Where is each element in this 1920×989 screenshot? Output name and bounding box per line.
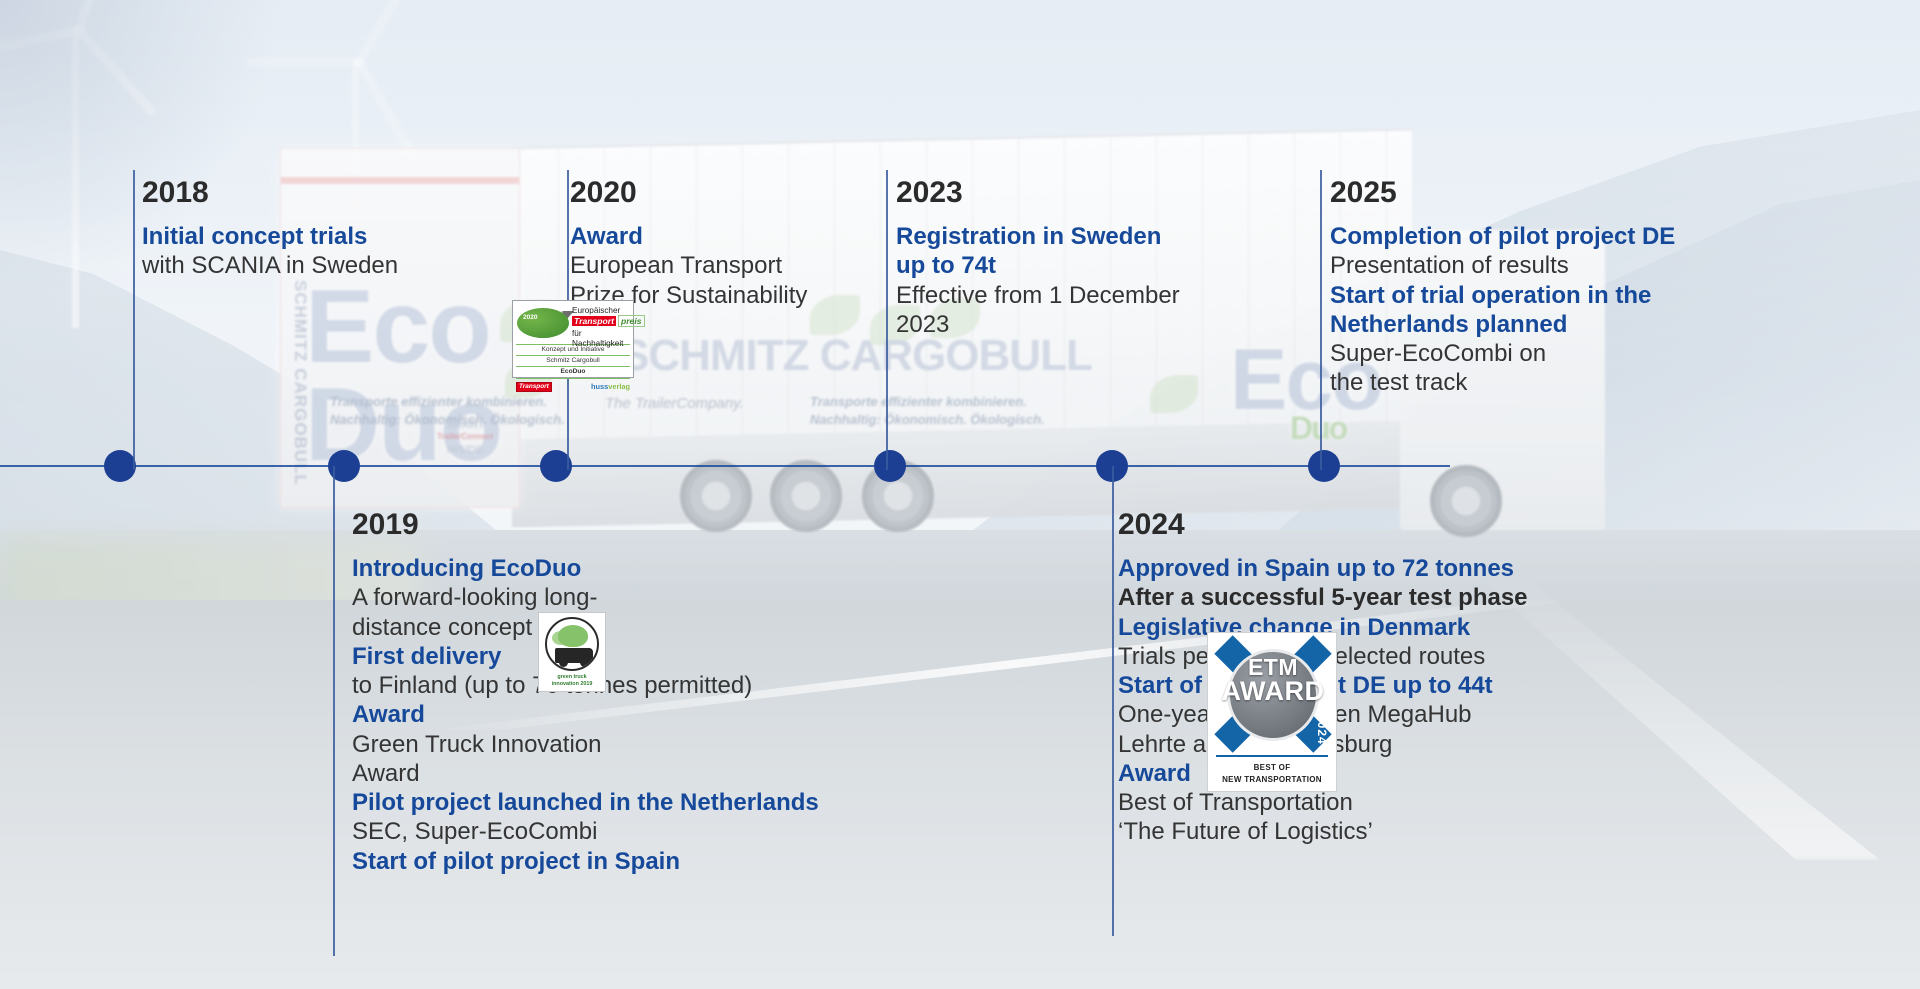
etp-row-product: EcoDuo (516, 367, 630, 378)
entry-line-body: the test track (1330, 368, 1760, 397)
entry-line-body: ‘The Future of Logistics’ (1118, 817, 1718, 846)
truck-slogan-line1-rear: Transporte effizienter kombinieren. (810, 392, 1027, 412)
entry-year: 2023 (896, 178, 1256, 208)
etm-footer-line2: NEW TRANSPORTATION (1216, 774, 1328, 786)
etp-footer-transport-mark: Transport (516, 382, 552, 392)
gt-caption-line1: green truck (552, 674, 593, 681)
etm-year: 2024 (1315, 714, 1329, 745)
entry-line-body: Presentation of results (1330, 251, 1760, 280)
entry-body: Completion of pilot project DE Presentat… (1330, 222, 1760, 398)
timeline-entry-2023: 2023 Registration in Sweden up to 74t Ef… (896, 178, 1256, 339)
truck-brand-vertical: SCHMITZ CARGOBULL (290, 280, 310, 486)
entry-line-highlight: Introducing EcoDuo (352, 554, 952, 583)
truck-eco-text: Eco (305, 280, 490, 376)
publisher-verlag: verlag (608, 382, 630, 391)
etm-word2: AWARD (1208, 679, 1338, 705)
smart-label: SMART (420, 418, 510, 432)
entry-line-body: 2023 (896, 310, 1256, 339)
timeline-entry-2018: 2018 Initial concept trials with SCANIA … (142, 178, 472, 281)
etp-line1: Europäischer (572, 306, 620, 316)
entry-line-highlight: Start of trial operation in the (1330, 281, 1760, 310)
entry-body: Award European Transport Prize for Susta… (570, 222, 870, 310)
tree-icon (558, 625, 588, 647)
truck-slogan-line2-rear: Nachhaltig: Ökonomisch. Ökologisch. (810, 410, 1045, 430)
entry-body: Initial concept trials with SCANIA in Sw… (142, 222, 472, 281)
timeline-dot-2023[interactable] (874, 450, 906, 482)
etp-footer-publisher: hussverlag (591, 382, 630, 391)
entry-line-body: to Finland (up to 76 tonnes permitted) (352, 671, 952, 700)
timeline-stem-2023 (886, 170, 888, 470)
european-transport-prize-logo: 2020 Europäischer Transportpreis für Nac… (512, 300, 634, 378)
timeline-stem-2025 (1320, 170, 1322, 470)
entry-line-highlight: Completion of pilot project DE (1330, 222, 1760, 251)
etp-year: 2020 (523, 314, 537, 322)
entry-line-body: SEC, Super-EcoCombi (352, 817, 952, 846)
etm-footer: BEST OF NEW TRANSPORTATION (1216, 755, 1328, 786)
inside-label: INSIDE (420, 443, 510, 457)
timeline-stem-2019 (333, 466, 335, 956)
green-truck-innovation-award-logo: green truck innovation 2019 (538, 612, 606, 692)
timeline-stem-2024 (1112, 466, 1114, 936)
entry-line-body: with SCANIA in Sweden (142, 251, 472, 280)
entry-line-body: distance concept (352, 613, 952, 642)
entry-line-body-strong: After a successful 5-year test phase (1118, 583, 1718, 612)
entry-line-body: Best of Transportation (1118, 788, 1718, 817)
entry-line-body: European Transport (570, 251, 870, 280)
entry-body: Registration in Sweden up to 74t Effecti… (896, 222, 1256, 339)
entry-line-highlight: First delivery (352, 642, 952, 671)
etm-footer-line1: BEST OF (1216, 762, 1328, 774)
entry-year: 2024 (1118, 510, 1718, 540)
entry-body: Introducing EcoDuo A forward-looking lon… (352, 554, 952, 876)
timeline-dot-2018[interactable] (104, 450, 136, 482)
entry-line-highlight: Award (570, 222, 870, 251)
entry-line-body: Effective from 1 December (896, 281, 1256, 310)
entry-line-highlight: Registration in Sweden (896, 222, 1256, 251)
gt-caption-line2: innovation 2019 (552, 681, 593, 688)
entry-year: 2019 (352, 510, 952, 540)
entry-year: 2025 (1330, 178, 1760, 208)
trailerconnect-label: TrailerConnect (420, 432, 510, 442)
entry-line-body: Super-EcoCombi on (1330, 339, 1760, 368)
entry-line-body: Award (352, 759, 952, 788)
timeline-stem-2018 (133, 170, 135, 470)
timeline-axis (0, 465, 1450, 467)
timeline-entry-2025: 2025 Completion of pilot project DE Pres… (1330, 178, 1760, 398)
etp-line2: Transportpreis (572, 316, 645, 327)
entry-line-highlight: Initial concept trials (142, 222, 472, 251)
publisher-huss: huss (591, 382, 608, 391)
smart-trailer-connect-badge: SMART TrailerConnect INSIDE (420, 418, 510, 488)
entry-line-highlight: Approved in Spain up to 72 tonnes (1118, 554, 1718, 583)
etm-emblem: ETM AWARD 2024 (1208, 633, 1336, 755)
green-truck-caption: green truck innovation 2019 (552, 674, 593, 689)
etp-row-company: Schmitz Cargobull (516, 356, 630, 367)
etm-award-logo: ETM AWARD 2024 BEST OF NEW TRANSPORTATIO… (1207, 632, 1337, 792)
entry-line-body: A forward-looking long- (352, 583, 952, 612)
truck-slogan-line1: Transporte effizienter kombinieren. (330, 392, 547, 412)
etp-header: 2020 Europäischer Transportpreis für Nac… (516, 304, 630, 344)
entry-line-highlight: Pilot project launched in the Netherland… (352, 788, 952, 817)
entry-line-highlight: Start of pilot project in Spain (352, 847, 952, 876)
etp-word-transport: Transport (572, 316, 616, 326)
truck-tagline: The TrailerCompany. (605, 395, 744, 412)
entry-line-highlight: up to 74t (896, 251, 1256, 280)
truck-duo-text-rear: Duo (1290, 410, 1346, 447)
entry-line-highlight: Netherlands planned (1330, 310, 1760, 339)
etm-wordmark: ETM AWARD (1208, 657, 1338, 704)
etp-word-preis: preis (618, 315, 645, 327)
entry-year: 2020 (570, 178, 870, 208)
etp-footer: Transport hussverlag (516, 381, 630, 393)
timeline-dot-2025[interactable] (1308, 450, 1340, 482)
green-oval-icon: 2020 (517, 308, 569, 338)
entry-line-highlight: Award (352, 700, 952, 729)
entry-year: 2018 (142, 178, 472, 208)
truck-brand-large: SCHMITZ CARGOBULL (620, 335, 1092, 377)
entry-line-body: Green Truck Innovation (352, 730, 952, 759)
timeline-entry-2020: 2020 Award European Transport Prize for … (570, 178, 870, 310)
etp-line3: für Nachhaltigkeit (572, 329, 630, 350)
green-truck-emblem-icon (545, 617, 599, 671)
truck-silhouette-icon (555, 648, 593, 663)
timeline-entry-2019: 2019 Introducing EcoDuo A forward-lookin… (352, 510, 952, 876)
